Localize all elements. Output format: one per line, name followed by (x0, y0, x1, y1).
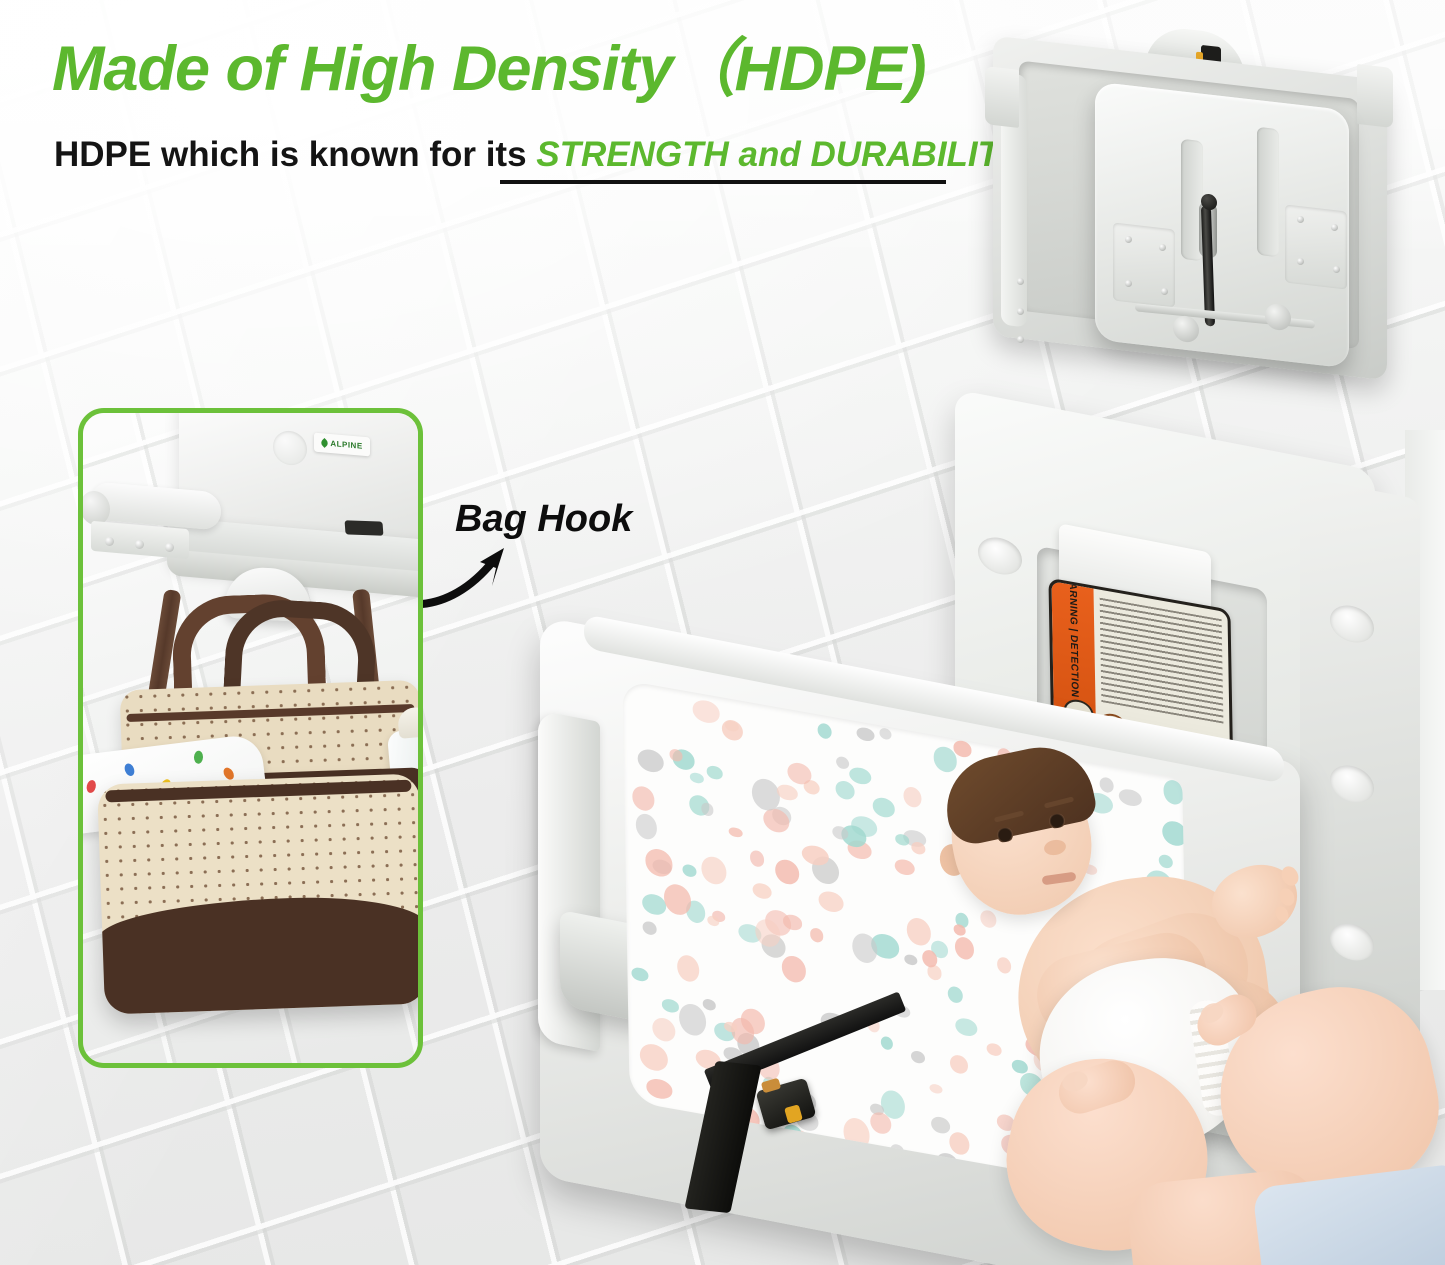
pad-dot (682, 864, 696, 878)
pad-dot (703, 998, 717, 1011)
folded-tab-left (985, 66, 1019, 128)
pad-dot (664, 883, 691, 917)
mounting-plate-right (1285, 204, 1347, 289)
pad-dot (635, 812, 657, 840)
pad-dot (662, 998, 679, 1013)
pad-dot (677, 953, 700, 983)
pad-dot (642, 892, 666, 917)
pad-dot (632, 784, 655, 812)
pad-dot (679, 1002, 706, 1038)
leaf-icon (320, 438, 330, 448)
pad-dot (879, 727, 891, 740)
product-marketing-image: Made of High Density（HDPE) HDPE which is… (0, 0, 1445, 1265)
pad-dot (701, 855, 726, 886)
bag-hook-inset-panel: ALPINE (78, 408, 423, 1068)
pad-dot (690, 772, 704, 785)
pad-dot (637, 747, 664, 774)
pad-dot (645, 847, 673, 878)
pad-dot (817, 722, 831, 740)
pad-dot (652, 1016, 675, 1043)
strap-clip (345, 520, 384, 535)
diaper-bag (83, 589, 418, 1063)
pad-dot (707, 765, 723, 780)
pad-dot (646, 1077, 672, 1100)
pad-dot (857, 726, 875, 742)
pad-dot (692, 699, 720, 726)
subheadline-highlight: STRENGTH and DURABILITY. (536, 135, 1029, 174)
brand-name: ALPINE (330, 439, 362, 451)
pad-dot (643, 920, 657, 935)
folded-tab-right (1357, 64, 1393, 128)
page-subheadline: HDPE which is known for its STRENGTH and… (54, 136, 1014, 175)
bag-hook-callout-label: Bag Hook (455, 498, 632, 541)
tray-rib (1257, 127, 1279, 258)
subheadline-underline (500, 180, 946, 184)
bag-front-pocket (97, 773, 418, 1014)
pad-dot (640, 1042, 668, 1073)
callout-arrow-icon (418, 540, 528, 610)
subheadline-prefix: HDPE which is known for its (54, 135, 536, 174)
pad-dot (631, 966, 648, 982)
folded-changing-station (985, 30, 1405, 390)
page-headline: Made of High Density（HDPE) (52, 38, 1012, 101)
